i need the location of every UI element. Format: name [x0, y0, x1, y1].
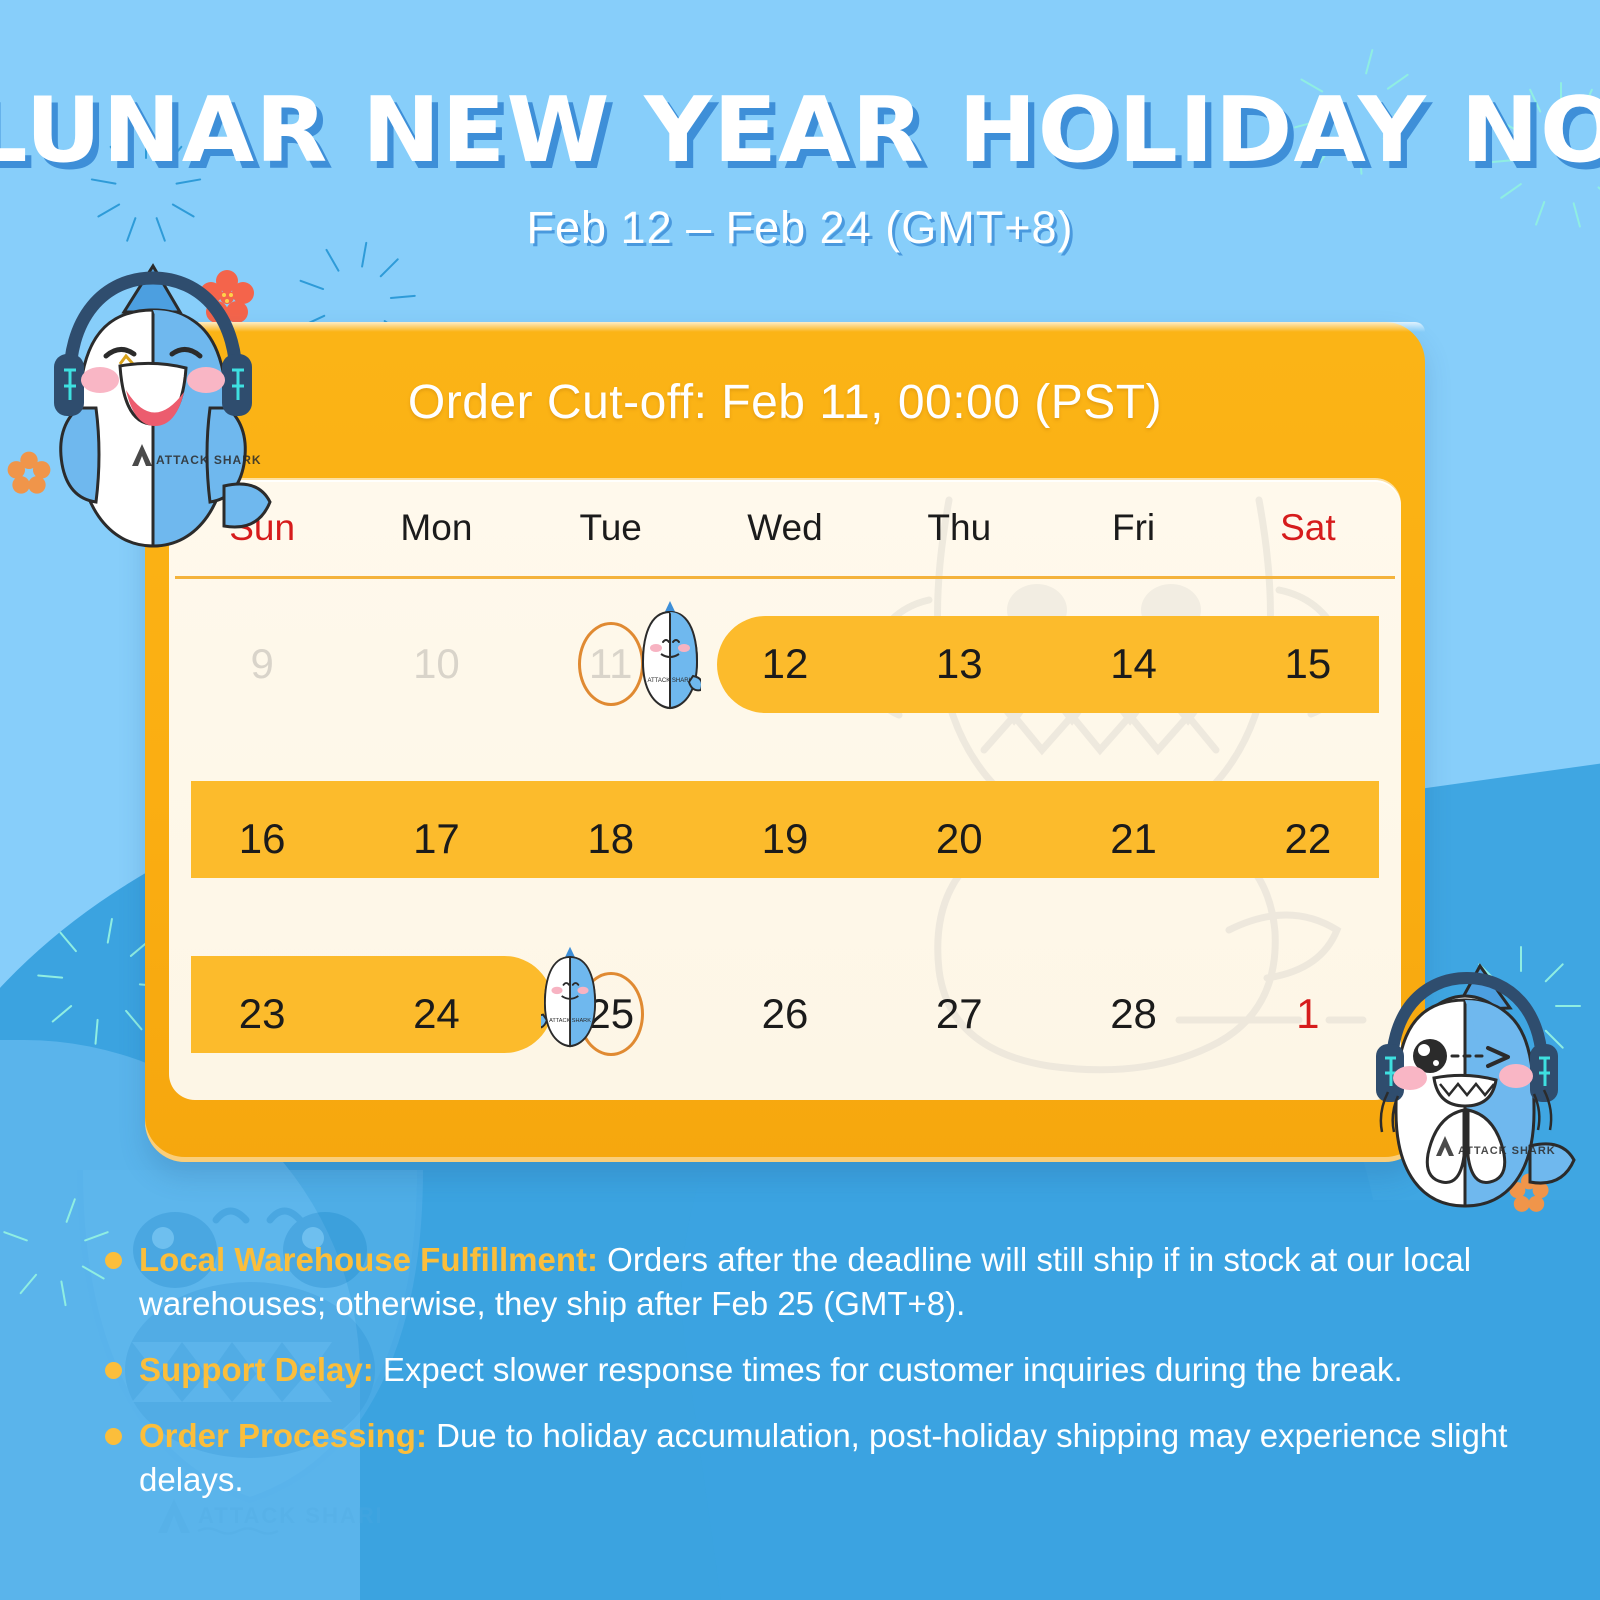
header: LUNAR NEW YEAR HOLIDAY NOTICE Feb 12 – F…: [0, 86, 1600, 254]
notes-list: Local Warehouse Fulfillment: Orders afte…: [95, 1238, 1515, 1523]
page-title: LUNAR NEW YEAR HOLIDAY NOTICE: [0, 86, 1600, 176]
calendar-weekday-fri: Fri: [1046, 507, 1220, 549]
bullet-dot-icon: [105, 1362, 122, 1379]
svg-text:ATTACK SHARK: ATTACK SHARK: [1458, 1145, 1556, 1157]
calendar-day-cell[interactable]: 16: [175, 815, 349, 863]
calendar-day-number: 23: [239, 990, 286, 1037]
mascot-shark-laughing: ATTACK SHARK: [28, 258, 278, 558]
mascot-shark-winking-icon: ATTACK SHARK: [1352, 960, 1582, 1210]
bullet-dot-icon: [105, 1428, 122, 1445]
calendar-day-number: 20: [936, 815, 983, 862]
note-item: Support Delay: Expect slower response ti…: [95, 1348, 1515, 1392]
note-label: Support Delay:: [139, 1351, 374, 1388]
note-text: Expect slower response times for custome…: [374, 1351, 1403, 1388]
note-item: Order Processing: Due to holiday accumul…: [95, 1414, 1515, 1502]
calendar-weekday-wed: Wed: [698, 507, 872, 549]
page-subtitle: Feb 12 – Feb 24 (GMT+8): [0, 202, 1600, 254]
svg-text:ATTACK SHARK: ATTACK SHARK: [549, 1018, 591, 1024]
calendar-day-number: 26: [762, 990, 809, 1037]
calendar-day-cell[interactable]: 28: [1046, 990, 1220, 1038]
calendar-day-number: 13: [936, 640, 983, 687]
calendar-day-number: 18: [587, 815, 634, 862]
calendar-day-cell[interactable]: 27: [872, 990, 1046, 1038]
calendar-day-number: 14: [1110, 640, 1157, 687]
calendar-day-number: 11: [589, 640, 633, 687]
calendar-day-number: 9: [250, 640, 273, 687]
bullet-dot-icon: [105, 1252, 122, 1269]
calendar-day-cell[interactable]: 13: [872, 640, 1046, 688]
mascot-shark-small-icon: ATTACK SHARK: [639, 598, 701, 710]
calendar-day-number: 19: [762, 815, 809, 862]
calendar-day-number: 10: [413, 640, 460, 687]
calendar-day-cell[interactable]: 14: [1046, 640, 1220, 688]
calendar-card: Order Cut-off: Feb 11, 00:00 (PST) SunMo…: [145, 322, 1425, 1162]
calendar-day-number: 22: [1284, 815, 1331, 862]
calendar-day-cell[interactable]: 17: [349, 815, 523, 863]
calendar-day-number: 24: [413, 990, 460, 1037]
calendar-day-cell[interactable]: 12: [698, 640, 872, 688]
calendar-weekday-thu: Thu: [872, 507, 1046, 549]
order-cutoff-text: Order Cut-off: Feb 11, 00:00 (PST): [408, 375, 1162, 430]
calendar-day-number: 27: [936, 990, 983, 1037]
calendar-day-cell[interactable]: 22: [1221, 815, 1395, 863]
note-label: Order Processing:: [139, 1417, 427, 1454]
calendar-weekday-sat: Sat: [1221, 507, 1395, 549]
calendar-day-cell[interactable]: 21: [1046, 815, 1220, 863]
calendar-day-cell[interactable]: 15: [1221, 640, 1395, 688]
svg-text:ATTACK SHARK: ATTACK SHARK: [156, 453, 262, 467]
calendar-week-days: 9101112131415: [169, 576, 1401, 751]
calendar-day-number: 1: [1296, 990, 1319, 1037]
mascot-shark-winking: ATTACK SHARK: [1352, 960, 1582, 1210]
calendar-week-days: 16171819202122: [169, 751, 1401, 926]
calendar-day-cell[interactable]: 10: [349, 640, 523, 688]
calendar-weekday-mon: Mon: [349, 507, 523, 549]
note-label: Local Warehouse Fulfillment:: [139, 1241, 598, 1278]
calendar-week-days: 2324252627281: [169, 926, 1401, 1100]
calendar-weekday-header: SunMonTueWedThuFriSat: [169, 480, 1401, 576]
mascot-shark-laughing-icon: ATTACK SHARK: [28, 258, 278, 558]
calendar-day-cell[interactable]: 19: [698, 815, 872, 863]
calendar-day-cell[interactable]: 18: [524, 815, 698, 863]
mascot-shark-small-icon: ATTACK SHARK: [541, 944, 599, 1048]
calendar-day-number: 17: [413, 815, 460, 862]
calendar-day-number: 15: [1284, 640, 1331, 687]
calendar-weekday-tue: Tue: [524, 507, 698, 549]
calendar-day-cell[interactable]: 24: [349, 990, 523, 1038]
calendar-day-number: 16: [239, 815, 286, 862]
calendar-day-cell[interactable]: 20: [872, 815, 1046, 863]
calendar-day-cell[interactable]: 26: [698, 990, 872, 1038]
note-item: Local Warehouse Fulfillment: Orders afte…: [95, 1238, 1515, 1326]
calendar-week-row: 2324252627281 ATTACK SHARK: [169, 926, 1401, 1100]
calendar-day-number: 28: [1110, 990, 1157, 1037]
calendar-panel: SunMonTueWedThuFriSat 9101112131415 ATTA…: [169, 480, 1401, 1100]
calendar-day-cell[interactable]: 9: [175, 640, 349, 688]
calendar-week-row: 16171819202122: [169, 751, 1401, 926]
svg-text:ATTACK SHARK: ATTACK SHARK: [647, 678, 692, 684]
calendar-day-cell[interactable]: 23: [175, 990, 349, 1038]
order-cutoff-banner: Order Cut-off: Feb 11, 00:00 (PST): [145, 322, 1425, 482]
calendar-week-row: 9101112131415 ATTACK SHARK: [169, 576, 1401, 751]
calendar-day-number: 12: [762, 640, 809, 687]
calendar-day-number: 21: [1110, 815, 1157, 862]
